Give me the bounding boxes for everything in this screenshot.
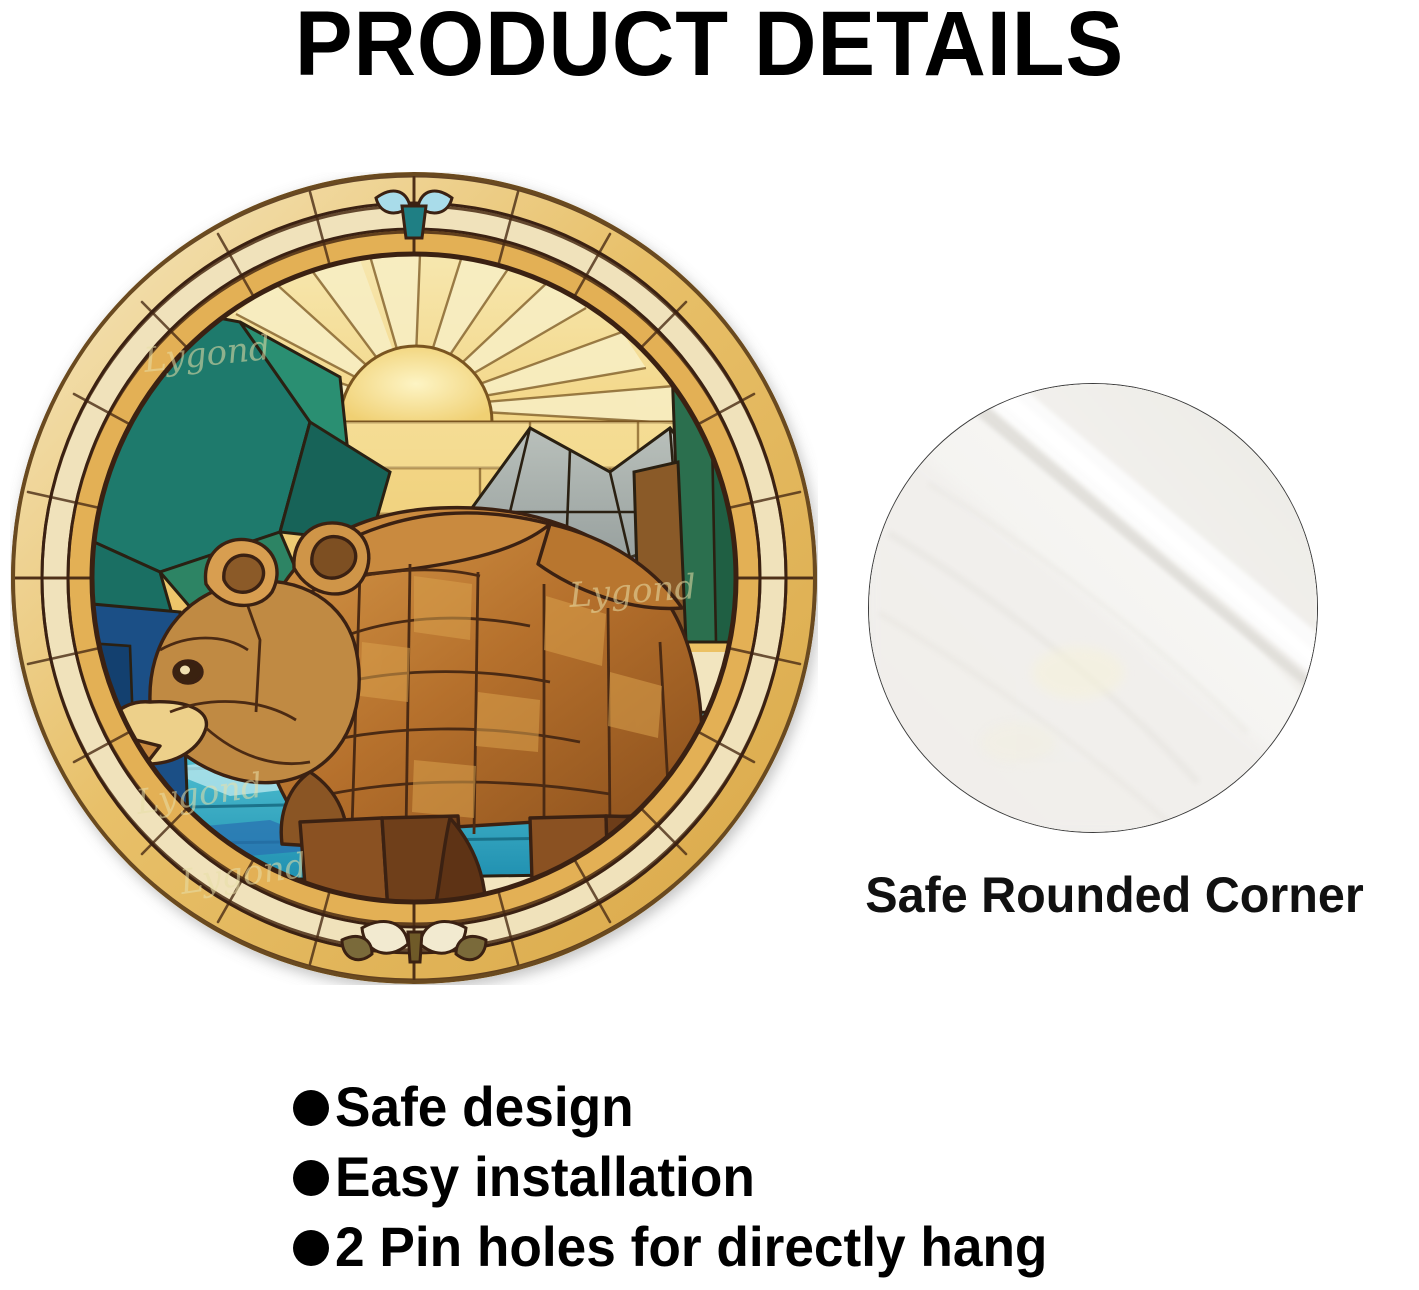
bullet-dot-icon xyxy=(293,1160,329,1196)
page-title: PRODUCT DETAILS xyxy=(43,0,1377,93)
feature-label: 2 Pin holes for directly hang xyxy=(335,1212,1047,1282)
rounded-corner-macro-photo xyxy=(868,383,1318,833)
list-item: Safe design xyxy=(293,1072,1293,1142)
feature-label: Safe design xyxy=(335,1072,634,1142)
list-item: Easy installation xyxy=(293,1142,1293,1212)
feature-label: Easy installation xyxy=(335,1142,755,1212)
bullet-dot-icon xyxy=(293,1090,329,1126)
product-artwork-stained-glass-bear: Lygond Lygond Lygond Lygond xyxy=(10,172,818,985)
corner-detail-caption: Safe Rounded Corner xyxy=(819,866,1410,924)
feature-list: Safe design Easy installation 2 Pin hole… xyxy=(293,1072,1293,1282)
list-item: 2 Pin holes for directly hang xyxy=(293,1212,1293,1282)
bullet-dot-icon xyxy=(293,1230,329,1266)
